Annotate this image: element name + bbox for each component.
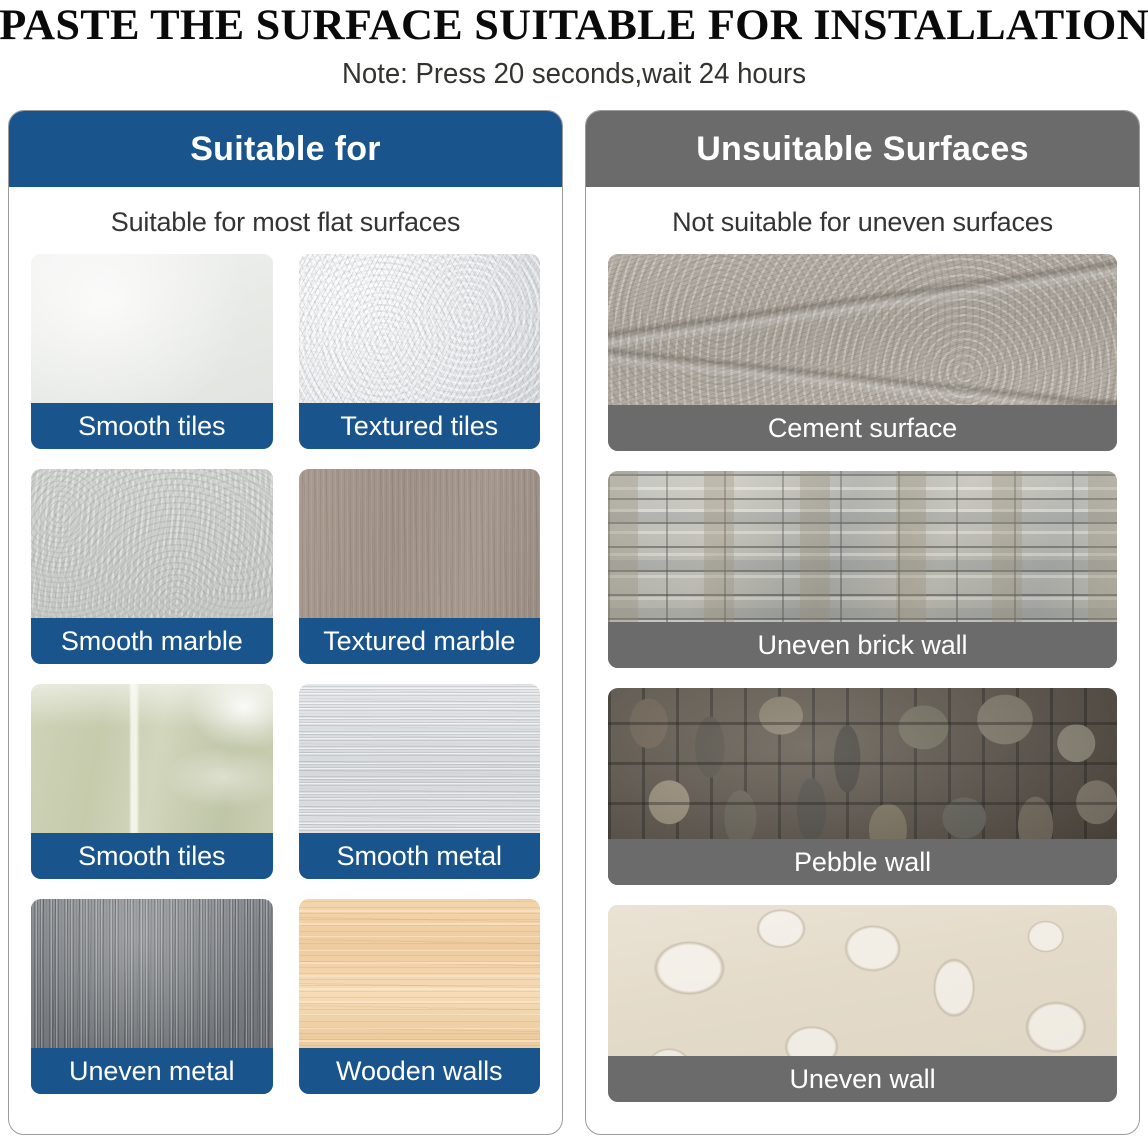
swatch-label: Wooden walls [299, 1048, 541, 1094]
swatch-label: Uneven metal [31, 1048, 273, 1094]
swatch-label: Smooth tiles [31, 833, 273, 879]
swatch-label: Smooth tiles [31, 403, 273, 449]
swatch-card: Smooth tiles [31, 684, 273, 879]
page-subtitle-note: Note: Press 20 seconds,wait 24 hours [29, 57, 1120, 91]
swatch-card: Pebble wall [608, 688, 1117, 885]
unsuitable-panel-body: Cement surfaceUneven brick wallPebble wa… [586, 252, 1139, 1134]
swatch-card: Uneven wall [608, 905, 1117, 1102]
suitable-swatch-grid: Smooth tilesTextured tilesSmooth marbleT… [31, 252, 540, 1094]
suitable-panel: Suitable for Suitable for most flat surf… [8, 110, 563, 1135]
unsuitable-panel-subtitle: Not suitable for uneven surfaces [586, 187, 1139, 252]
swatch-card: Smooth metal [299, 684, 541, 879]
page-header: PASTE THE SURFACE SUITABLE FOR INSTALLAT… [0, 0, 1148, 91]
swatch-label: Pebble wall [608, 839, 1117, 885]
swatch-card: Textured marble [299, 469, 541, 664]
swatch-label: Smooth metal [299, 833, 541, 879]
comparison-panels: Suitable for Suitable for most flat surf… [0, 110, 1148, 1135]
unsuitable-panel: Unsuitable Surfaces Not suitable for une… [585, 110, 1140, 1135]
swatch-card: Smooth tiles [31, 254, 273, 449]
swatch-label: Cement surface [608, 405, 1117, 451]
unsuitable-panel-header: Unsuitable Surfaces [586, 111, 1139, 187]
suitable-panel-body: Smooth tilesTextured tilesSmooth marbleT… [9, 252, 562, 1134]
swatch-card: Uneven brick wall [608, 471, 1117, 668]
swatch-card: Textured tiles [299, 254, 541, 449]
swatch-label: Smooth marble [31, 618, 273, 664]
suitable-panel-subtitle: Suitable for most flat surfaces [9, 187, 562, 252]
swatch-card: Wooden walls [299, 899, 541, 1094]
swatch-card: Uneven metal [31, 899, 273, 1094]
page-title: PASTE THE SURFACE SUITABLE FOR INSTALLAT… [0, 2, 1148, 50]
swatch-card: Smooth marble [31, 469, 273, 664]
swatch-card: Cement surface [608, 254, 1117, 451]
swatch-label: Textured tiles [299, 403, 541, 449]
swatch-label: Uneven brick wall [608, 622, 1117, 668]
suitable-panel-header: Suitable for [9, 111, 562, 187]
unsuitable-swatch-list: Cement surfaceUneven brick wallPebble wa… [608, 252, 1117, 1102]
swatch-label: Textured marble [299, 618, 541, 664]
swatch-label: Uneven wall [608, 1056, 1117, 1102]
